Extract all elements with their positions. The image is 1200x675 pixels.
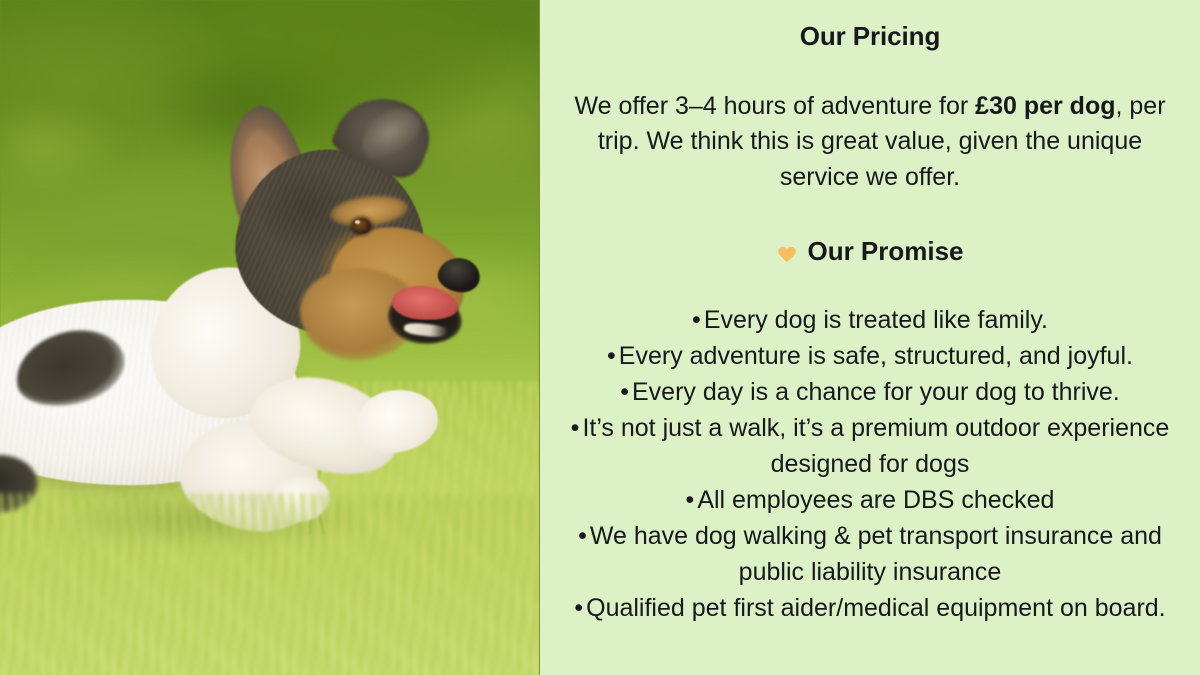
list-item-label: All employees are DBS checked [697, 486, 1054, 514]
bullet-icon: • [686, 486, 695, 514]
bullet-icon: • [607, 342, 616, 370]
slide-root: Our Pricing We offer 3–4 hours of advent… [0, 0, 1200, 675]
list-item: •Every dog is treated like family. [570, 302, 1170, 338]
pricing-paragraph: We offer 3–4 hours of adventure for £30 … [570, 89, 1170, 196]
list-item-label: It’s not just a walk, it’s a premium out… [582, 414, 1169, 478]
pricing-heading: Our Pricing [800, 20, 940, 53]
promise-heading-label: Our Promise [807, 235, 963, 268]
list-item-label: Every dog is treated like family. [704, 306, 1048, 334]
pricing-text-before-bold: We offer 3–4 hours of adventure for [574, 92, 975, 120]
list-item-label: Every day is a chance for your dog to th… [632, 378, 1120, 406]
promise-heading-row: Our Promise [776, 235, 963, 268]
bullet-icon: • [571, 414, 580, 442]
list-item: •All employees are DBS checked [570, 482, 1170, 518]
list-item-label: Qualified pet first aider/medical equipm… [586, 594, 1166, 622]
grass-overlay [0, 493, 540, 675]
list-item-label: Every adventure is safe, structured, and… [619, 342, 1133, 370]
list-item: •We have dog walking & pet transport ins… [570, 518, 1170, 590]
bullet-icon: • [578, 522, 587, 550]
pricing-price-highlight: £30 per dog [975, 92, 1115, 120]
orange-heart-icon [776, 240, 798, 262]
bullet-icon: • [692, 306, 701, 334]
promise-list: •Every dog is treated like family. •Ever… [570, 302, 1170, 626]
bullet-icon: • [620, 378, 629, 406]
dog-photo [0, 0, 540, 675]
dog-eye-highlight [355, 220, 360, 224]
list-item: •Every day is a chance for your dog to t… [570, 374, 1170, 410]
info-panel: Our Pricing We offer 3–4 hours of advent… [540, 0, 1200, 675]
list-item-label: We have dog walking & pet transport insu… [590, 522, 1162, 586]
bullet-icon: • [574, 594, 583, 622]
list-item: •Every adventure is safe, structured, an… [570, 338, 1170, 374]
list-item: •Qualified pet first aider/medical equip… [570, 590, 1170, 626]
list-item: •It’s not just a walk, it’s a premium ou… [570, 410, 1170, 482]
